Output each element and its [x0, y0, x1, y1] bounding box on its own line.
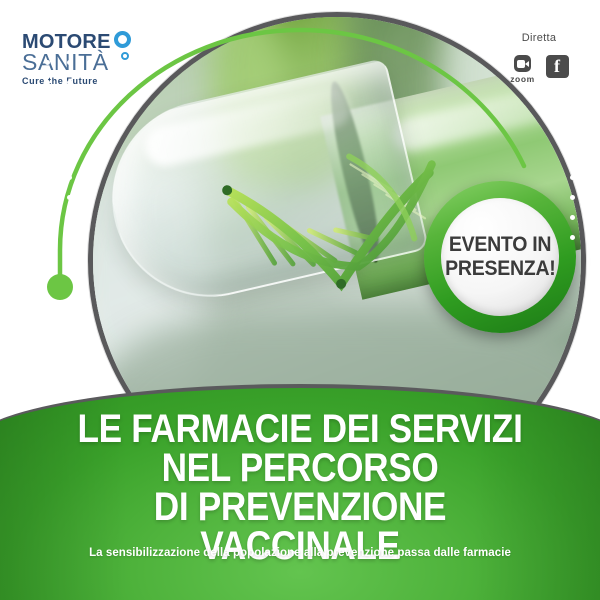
- logo-tagline: Cure the Future: [22, 76, 130, 87]
- event-title-line-1: LE FARMACIE DEI SERVIZI: [64, 410, 536, 449]
- event-subtitle: La sensibilizzazione della popolazione a…: [40, 546, 560, 561]
- evento-presenza-badge: EVENTO IN PRESENZA!: [424, 181, 576, 333]
- facebook-link[interactable]: f: [546, 55, 569, 78]
- dot-grid-left-bottom: [45, 175, 72, 240]
- event-poster: MOTORE SANITÀ Cure the Future Diretta zo…: [0, 0, 600, 600]
- event-title: LE FARMACIE DEI SERVIZI NEL PERCORSO DI …: [32, 410, 568, 566]
- dot-grid-left-top: [45, 60, 72, 125]
- zoom-label: zoom: [510, 74, 535, 84]
- gear-small-icon: [121, 52, 129, 60]
- arc-end-dot: [47, 274, 73, 300]
- badge-line-2: PRESENZA!: [445, 257, 555, 281]
- facebook-icon: f: [546, 55, 569, 78]
- event-title-line-2: NEL PERCORSO: [64, 449, 536, 488]
- logo-line-sanita: SANITÀ: [22, 51, 130, 74]
- broadcast-label: Diretta: [496, 32, 582, 45]
- dot-grid-right-top: [570, 60, 597, 125]
- logo[interactable]: MOTORE SANITÀ Cure the Future: [22, 32, 130, 84]
- badge-inner-circle: EVENTO IN PRESENZA!: [441, 198, 559, 316]
- zoom-link[interactable]: zoom: [510, 55, 536, 84]
- gear-icon: [114, 31, 131, 48]
- zoom-camera-icon: [514, 55, 531, 72]
- dot-grid-right-bottom: [570, 175, 597, 240]
- badge-line-1: EVENTO IN: [449, 233, 551, 257]
